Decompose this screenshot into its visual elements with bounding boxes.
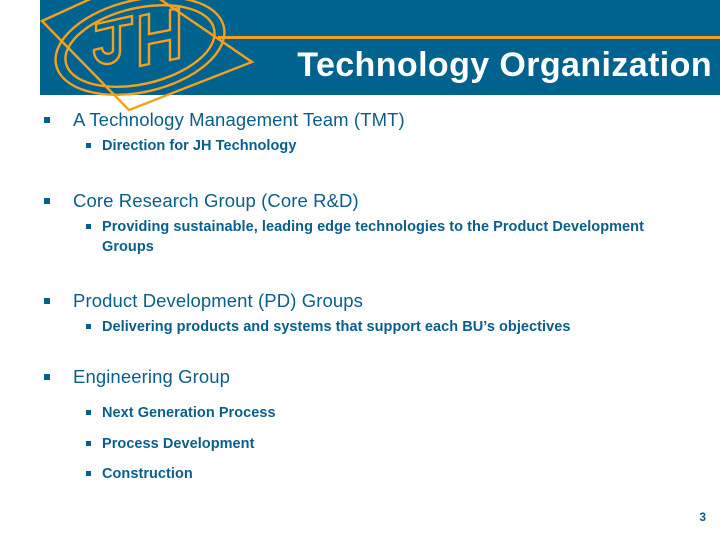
spacer <box>40 454 680 464</box>
square-bullet-icon <box>86 441 91 446</box>
bullet-level2-label: Next Generation Process <box>102 405 276 421</box>
slide-body: A Technology Management Team (TMT) Direc… <box>40 108 680 495</box>
bullet-level2: Direction for JH Technology <box>40 136 680 157</box>
page-title: Technology Organization <box>72 45 712 85</box>
header-accent-rule <box>218 36 720 39</box>
spacer <box>40 347 680 365</box>
bullet-level2: Providing sustainable, leading edge tech… <box>40 217 680 258</box>
square-bullet-icon <box>86 224 91 229</box>
bullet-group-4: Engineering Group Next Generation Proces… <box>40 365 680 485</box>
bullet-level1-label: Engineering Group <box>73 366 230 387</box>
bullet-group-3: Product Development (PD) Groups Deliveri… <box>40 289 680 338</box>
bullet-group-2: Core Research Group (Core R&D) Providing… <box>40 189 680 258</box>
bullet-level2-label: Construction <box>102 466 193 482</box>
spacer <box>40 424 680 434</box>
bullet-level2: Delivering products and systems that sup… <box>40 317 680 338</box>
bullet-level1-label: Product Development (PD) Groups <box>73 290 363 311</box>
square-bullet-icon <box>44 298 50 304</box>
bullet-level1-label: Core Research Group (Core R&D) <box>73 190 359 211</box>
page-number: 3 <box>699 510 706 524</box>
square-bullet-icon <box>86 143 91 148</box>
spacer <box>40 393 680 403</box>
bullet-level1: Core Research Group (Core R&D) <box>40 189 680 213</box>
square-bullet-icon <box>86 471 91 476</box>
bullet-level1-label: A Technology Management Team (TMT) <box>73 109 405 130</box>
bullet-level1: A Technology Management Team (TMT) <box>40 108 680 132</box>
square-bullet-icon <box>44 198 50 204</box>
bullet-level2-label: Direction for JH Technology <box>102 138 296 154</box>
square-bullet-icon <box>44 374 50 380</box>
bullet-level2-label: Providing sustainable, leading edge tech… <box>102 219 644 256</box>
bullet-level2: Next Generation Process <box>40 403 680 424</box>
square-bullet-icon <box>44 117 50 123</box>
bullet-level2-label: Delivering products and systems that sup… <box>102 319 570 335</box>
square-bullet-icon <box>86 324 91 329</box>
bullet-level2: Process Development <box>40 434 680 455</box>
bullet-level2: Construction <box>40 464 680 485</box>
square-bullet-icon <box>86 410 91 415</box>
bullet-group-1: A Technology Management Team (TMT) Direc… <box>40 108 680 157</box>
bullet-level2-label: Process Development <box>102 436 254 452</box>
bullet-level1: Engineering Group <box>40 365 680 389</box>
spacer <box>40 268 680 289</box>
slide-canvas: Technology Organization A Technology Man… <box>0 0 720 540</box>
bullet-level1: Product Development (PD) Groups <box>40 289 680 313</box>
spacer <box>40 167 680 189</box>
